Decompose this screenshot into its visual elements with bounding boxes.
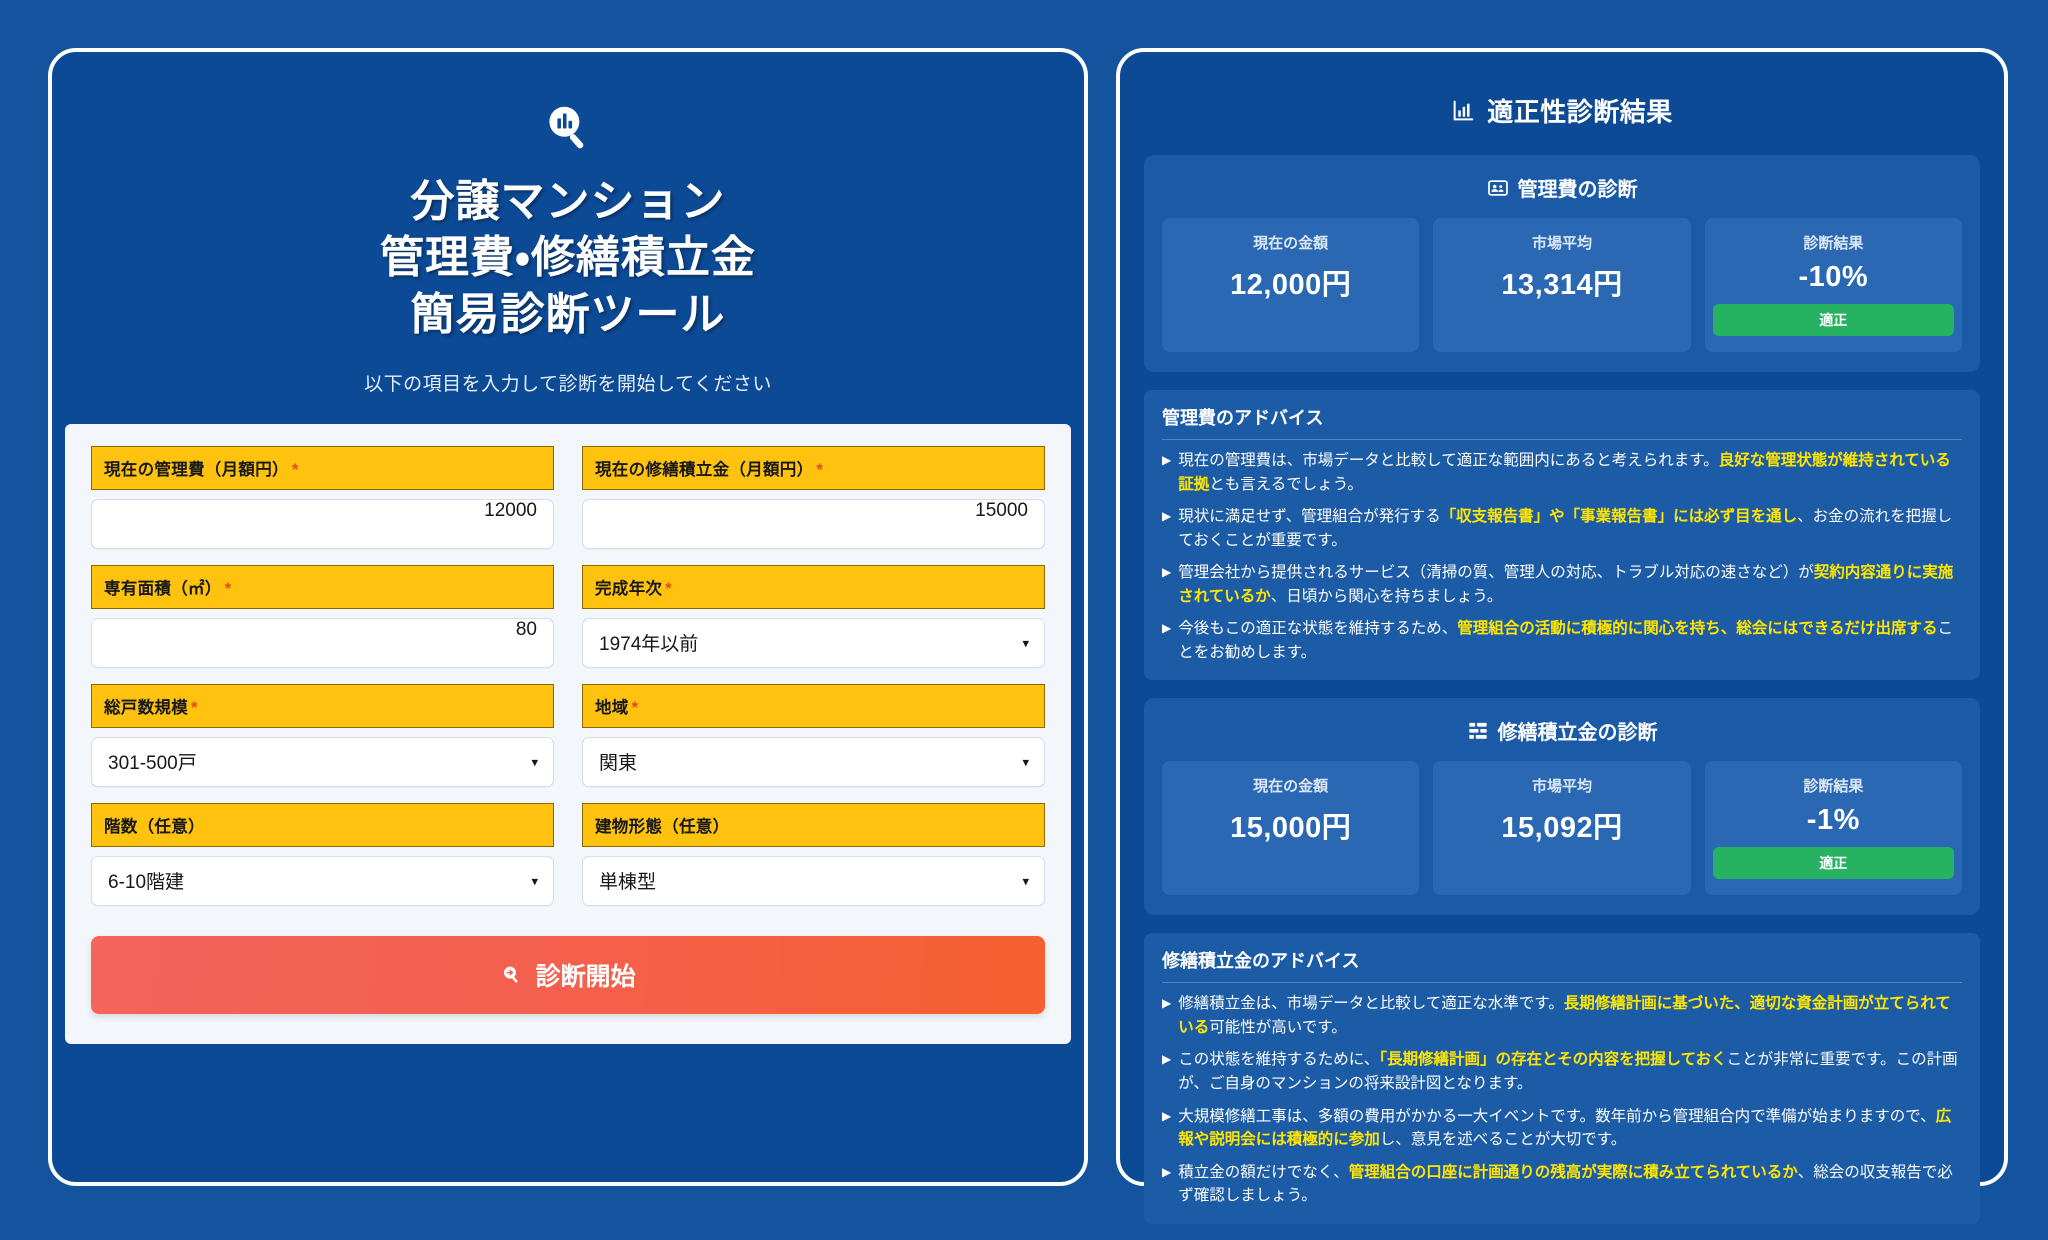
advice-list: ▶現在の管理費は、市場データと比較して適正な範囲内にあると考えられます。良好な管…	[1162, 449, 1962, 664]
chart-search-icon	[539, 100, 597, 158]
results-title: 適正性診断結果	[1144, 92, 1980, 129]
title-line-3: 簡易診断ツール	[380, 287, 756, 343]
status-badge: 適正	[1713, 847, 1954, 879]
advice-list: ▶修繕積立金は、市場データと比較して適正な水準です。長期修繕計画に基づいた、適切…	[1162, 992, 1962, 1207]
field-label: 地域*	[582, 684, 1045, 728]
stat-label: 診断結果	[1713, 775, 1954, 796]
floor-area-input[interactable]: 80	[91, 618, 554, 668]
management-fee-diagnosis-block: 管理費の診断 現在の金額 12,000円 市場平均 13,314円 診断結果 -…	[1144, 155, 1980, 372]
required-marker	[729, 818, 732, 836]
advice-title: 管理費のアドバイス	[1162, 404, 1962, 440]
field-label: 現在の修繕積立金（月額円）*	[582, 446, 1045, 490]
field-current-repair-reserve: 現在の修繕積立金（月額円）* 15000	[582, 446, 1045, 549]
stat-row: 現在の金額 12,000円 市場平均 13,314円 診断結果 -10% 適正	[1162, 218, 1962, 352]
stat-value: -10%	[1713, 261, 1954, 294]
chevron-down-icon[interactable]: ▾	[531, 874, 538, 887]
floors-select[interactable]: 6-10階建	[91, 856, 554, 906]
completion-year-select[interactable]: 1974年以前	[582, 618, 1045, 668]
management-fee-input[interactable]: 12000	[91, 499, 554, 549]
stat-card-diagnosis-result: 診断結果 -10% 適正	[1705, 218, 1962, 352]
search-arrow-icon	[500, 963, 524, 987]
section-heading-label: 管理費の診断	[1518, 173, 1638, 202]
advice-text: 管理会社から提供されるサービス（清掃の質、管理人の対応、トラブル対応の速さなど）…	[1178, 561, 1962, 608]
triangle-bullet-icon: ▶	[1162, 992, 1171, 1039]
total-units-select-wrap: 301-500戸 ▾	[91, 737, 554, 787]
section-heading-label: 修繕積立金の診断	[1498, 716, 1658, 745]
stat-card-diagnosis-result: 診断結果 -1% 適正	[1705, 761, 1962, 895]
stat-card-current: 現在の金額 12,000円	[1162, 218, 1419, 352]
field-label: 専有面積（㎡）*	[91, 565, 554, 609]
stat-value: 12,000円	[1170, 261, 1411, 303]
stat-card-current: 現在の金額 15,000円	[1162, 761, 1419, 895]
advice-text: 修繕積立金は、市場データと比較して適正な水準です。長期修繕計画に基づいた、適切な…	[1178, 992, 1962, 1039]
diagnosis-form: 現在の管理費（月額円）* 12000 現在の修繕積立金（月額円）* 15000 …	[65, 424, 1071, 1044]
field-current-management-fee: 現在の管理費（月額円）* 12000	[91, 446, 554, 549]
advice-text: この状態を維持するために、「長期修繕計画」の存在とその内容を把握しておくことが非…	[1178, 1048, 1962, 1095]
results-panel: 適正性診断結果 管理費の診断 現在の金額	[1116, 48, 2008, 1186]
chevron-down-icon[interactable]: ▾	[1022, 755, 1029, 768]
page-title: 分譲マンション 管理費・修繕積立金 簡易診断ツール	[380, 174, 756, 343]
app-root: 分譲マンション 管理費・修繕積立金 簡易診断ツール 以下の項目を入力して診断を開…	[0, 0, 2048, 1240]
advice-text: 現状に満足せず、管理組合が発行する「収支報告書」や「事業報告書」には必ず目を通し…	[1178, 505, 1962, 552]
required-marker: *	[813, 461, 823, 479]
required-marker: *	[289, 461, 299, 479]
management-card-icon	[1487, 177, 1509, 199]
title-line-1: 分譲マンション	[380, 174, 756, 230]
triangle-bullet-icon: ▶	[1162, 1105, 1171, 1152]
stat-label: 市場平均	[1441, 775, 1682, 796]
field-completion-year: 完成年次* 1974年以前 ▾	[582, 565, 1045, 668]
triangle-bullet-icon: ▶	[1162, 1161, 1171, 1208]
advice-item: ▶修繕積立金は、市場データと比較して適正な水準です。長期修繕計画に基づいた、適切…	[1162, 992, 1962, 1039]
advice-title: 修繕積立金のアドバイス	[1162, 947, 1962, 983]
results-title-label: 適正性診断結果	[1487, 92, 1673, 129]
title-line-2: 管理費・修繕積立金	[380, 230, 756, 286]
status-badge: 適正	[1713, 304, 1954, 336]
section-heading: 修繕積立金の診断	[1162, 716, 1962, 745]
field-label: 総戸数規模*	[91, 684, 554, 728]
field-label: 完成年次*	[582, 565, 1045, 609]
repair-reserve-diagnosis-block: 修繕積立金の診断 現在の金額 15,000円 市場平均 15,092円 診断結果…	[1144, 698, 1980, 915]
stat-card-market-average: 市場平均 15,092円	[1433, 761, 1690, 895]
floors-select-wrap: 6-10階建 ▾	[91, 856, 554, 906]
advice-item: ▶積立金の額だけでなく、管理組合の口座に計画通りの残高が実際に積み立てられている…	[1162, 1161, 1962, 1208]
building-stack-icon	[1467, 720, 1489, 742]
field-floor-area: 専有面積（㎡）* 80	[91, 565, 554, 668]
field-label: 建物形態（任意）	[582, 803, 1045, 847]
field-floors: 階数（任意） 6-10階建 ▾	[91, 803, 554, 906]
stat-label: 現在の金額	[1170, 775, 1411, 796]
advice-text: 今後もこの適正な状態を維持するため、管理組合の活動に積極的に関心を持ち、総会には…	[1178, 617, 1962, 664]
stat-value: 15,000円	[1170, 804, 1411, 846]
stat-value: -1%	[1713, 804, 1954, 837]
region-select[interactable]: 関東	[582, 737, 1045, 787]
chevron-down-icon[interactable]: ▾	[1022, 874, 1029, 887]
input-panel: 分譲マンション 管理費・修繕積立金 簡易診断ツール 以下の項目を入力して診断を開…	[48, 48, 1088, 1186]
stat-value: 13,314円	[1441, 261, 1682, 303]
building-type-select-wrap: 単棟型 ▾	[582, 856, 1045, 906]
chevron-down-icon[interactable]: ▾	[531, 755, 538, 768]
chevron-down-icon[interactable]: ▾	[1022, 636, 1029, 649]
start-diagnosis-button[interactable]: 診断開始	[91, 936, 1045, 1014]
advice-text: 現在の管理費は、市場データと比較して適正な範囲内にあると考えられます。良好な管理…	[1178, 449, 1962, 496]
management-fee-advice-block: 管理費のアドバイス ▶現在の管理費は、市場データと比較して適正な範囲内にあると考…	[1144, 390, 1980, 680]
field-label: 階数（任意）	[91, 803, 554, 847]
advice-item: ▶現状に満足せず、管理組合が発行する「収支報告書」や「事業報告書」には必ず目を通…	[1162, 505, 1962, 552]
total-units-select[interactable]: 301-500戸	[91, 737, 554, 787]
triangle-bullet-icon: ▶	[1162, 561, 1171, 608]
required-marker: *	[222, 580, 232, 598]
stat-label: 診断結果	[1713, 232, 1954, 253]
field-region: 地域* 関東 ▾	[582, 684, 1045, 787]
stat-card-market-average: 市場平均 13,314円	[1433, 218, 1690, 352]
advice-item: ▶現在の管理費は、市場データと比較して適正な範囲内にあると考えられます。良好な管…	[1162, 449, 1962, 496]
triangle-bullet-icon: ▶	[1162, 449, 1171, 496]
stat-value: 15,092円	[1441, 804, 1682, 846]
required-marker: *	[629, 699, 639, 717]
submit-label: 診断開始	[535, 957, 635, 993]
field-building-type: 建物形態（任意） 単棟型 ▾	[582, 803, 1045, 906]
advice-text: 大規模修繕工事は、多額の費用がかかる一大イベントです。数年前から管理組合内で準備…	[1178, 1105, 1962, 1152]
completion-year-select-wrap: 1974年以前 ▾	[582, 618, 1045, 668]
field-total-units: 総戸数規模* 301-500戸 ▾	[91, 684, 554, 787]
section-heading: 管理費の診断	[1162, 173, 1962, 202]
repair-reserve-input[interactable]: 15000	[582, 499, 1045, 549]
stat-label: 市場平均	[1441, 232, 1682, 253]
advice-item: ▶この状態を維持するために、「長期修繕計画」の存在とその内容を把握しておくことが…	[1162, 1048, 1962, 1095]
triangle-bullet-icon: ▶	[1162, 1048, 1171, 1095]
field-label: 現在の管理費（月額円）*	[91, 446, 554, 490]
triangle-bullet-icon: ▶	[1162, 617, 1171, 664]
required-marker: *	[188, 699, 198, 717]
advice-text: 積立金の額だけでなく、管理組合の口座に計画通りの残高が実際に積み立てられているか…	[1178, 1161, 1962, 1208]
required-marker: *	[662, 580, 672, 598]
stat-row: 現在の金額 15,000円 市場平均 15,092円 診断結果 -1% 適正	[1162, 761, 1962, 895]
building-type-select[interactable]: 単棟型	[582, 856, 1045, 906]
region-select-wrap: 関東 ▾	[582, 737, 1045, 787]
form-grid: 現在の管理費（月額円）* 12000 現在の修繕積立金（月額円）* 15000 …	[91, 446, 1045, 922]
bar-chart-icon	[1451, 98, 1476, 123]
page-subtitle: 以下の項目を入力して診断を開始してください	[364, 369, 772, 396]
stat-label: 現在の金額	[1170, 232, 1411, 253]
advice-item: ▶管理会社から提供されるサービス（清掃の質、管理人の対応、トラブル対応の速さなど…	[1162, 561, 1962, 608]
advice-item: ▶今後もこの適正な状態を維持するため、管理組合の活動に積極的に関心を持ち、総会に…	[1162, 617, 1962, 664]
triangle-bullet-icon: ▶	[1162, 505, 1171, 552]
advice-item: ▶大規模修繕工事は、多額の費用がかかる一大イベントです。数年前から管理組合内で準…	[1162, 1105, 1962, 1152]
repair-reserve-advice-block: 修繕積立金のアドバイス ▶修繕積立金は、市場データと比較して適正な水準です。長期…	[1144, 933, 1980, 1223]
required-marker	[205, 818, 208, 836]
